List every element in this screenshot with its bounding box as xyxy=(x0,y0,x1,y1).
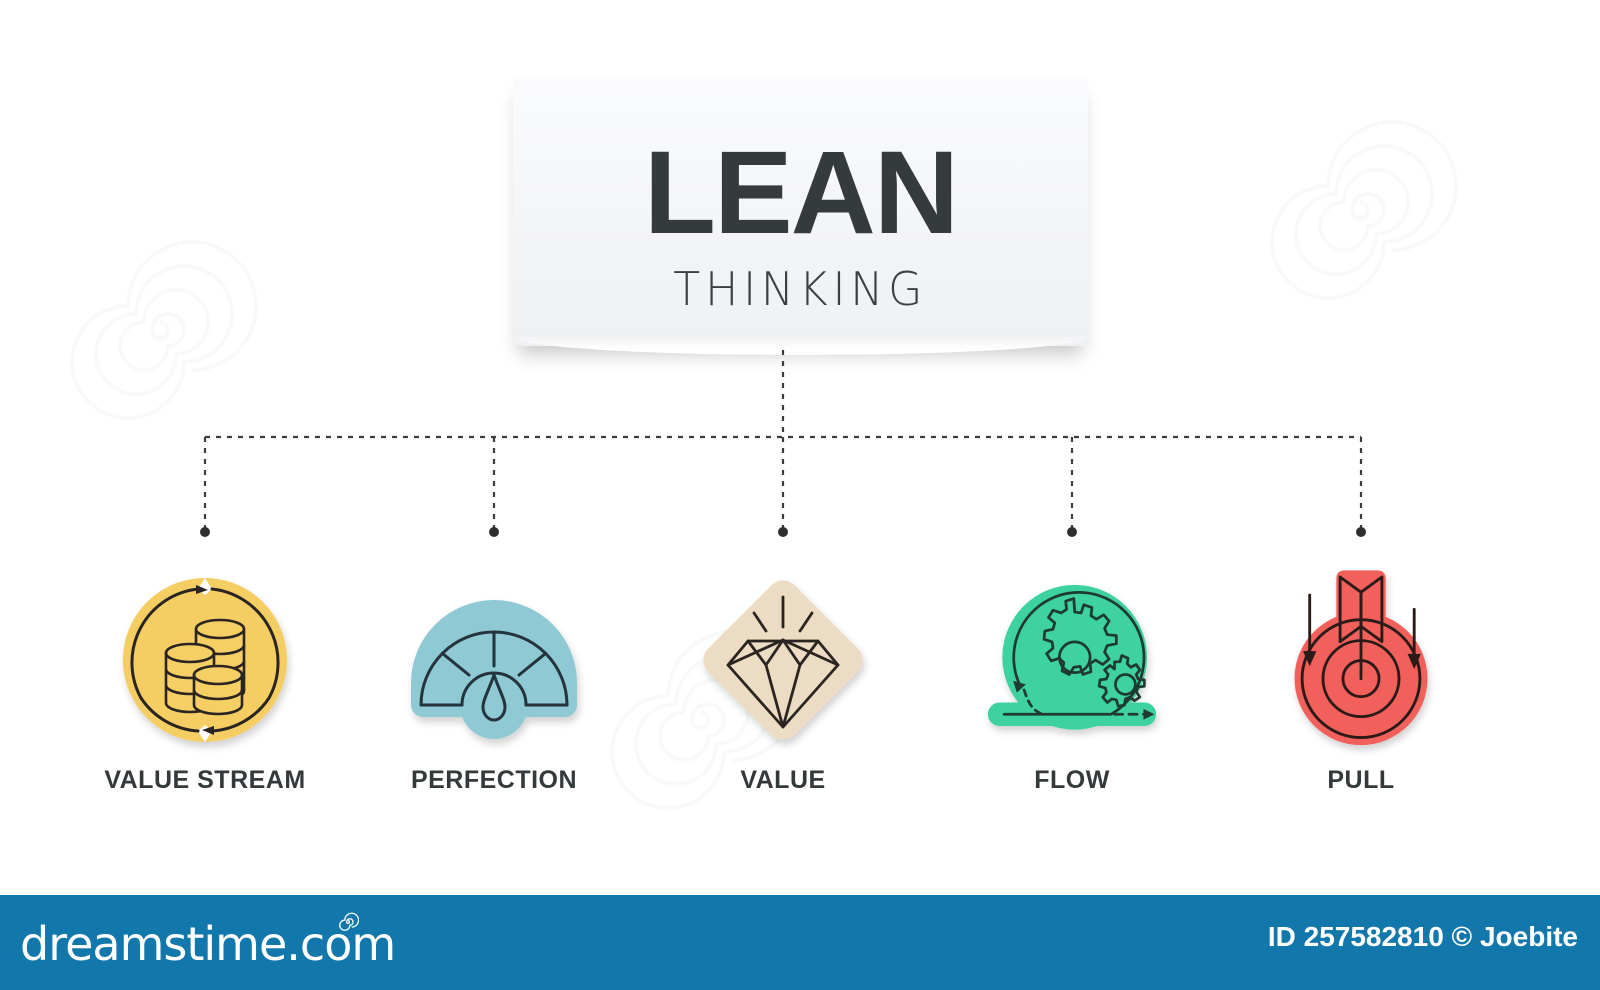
node-label-value: VALUE xyxy=(740,766,825,795)
node-flow[interactable]: FLOW xyxy=(947,560,1197,795)
page-title: LEAN xyxy=(644,134,957,252)
diamond-icon xyxy=(688,560,878,760)
gauge-meter-icon xyxy=(399,560,589,760)
node-pull[interactable]: PULL xyxy=(1236,545,1486,795)
connector-dot-2 xyxy=(489,527,499,537)
node-label-pull: PULL xyxy=(1327,766,1394,795)
node-label-perfection: PERFECTION xyxy=(411,766,577,795)
gears-circle-flow-icon xyxy=(977,560,1167,760)
connector-dot-1 xyxy=(200,527,210,537)
image-credit: ID 257582810 © Joebite xyxy=(1268,921,1578,953)
node-label-value-stream: VALUE STREAM xyxy=(104,766,305,795)
coins-stack-cycle-icon xyxy=(110,560,300,760)
connector-dot-3 xyxy=(778,527,788,537)
node-label-flow: FLOW xyxy=(1034,766,1110,795)
spiral-icon xyxy=(337,911,359,933)
page-subtitle: THINKING xyxy=(674,266,928,312)
title-card: LEAN THINKING xyxy=(513,76,1088,346)
watermark-spiral xyxy=(60,230,260,430)
infographic-canvas: LEAN THINKING xyxy=(0,0,1600,990)
connector-dot-5 xyxy=(1356,527,1366,537)
node-value-stream[interactable]: VALUE STREAM xyxy=(80,560,330,795)
node-perfection[interactable]: PERFECTION xyxy=(369,560,619,795)
watermark-spiral xyxy=(1260,110,1460,310)
connector-dot-4 xyxy=(1067,527,1077,537)
target-arrow-icon xyxy=(1266,545,1456,760)
node-value[interactable]: VALUE xyxy=(658,560,908,795)
footer-watermark-bar: dreamstime.com ID 257582810 © Joebite xyxy=(0,895,1600,990)
